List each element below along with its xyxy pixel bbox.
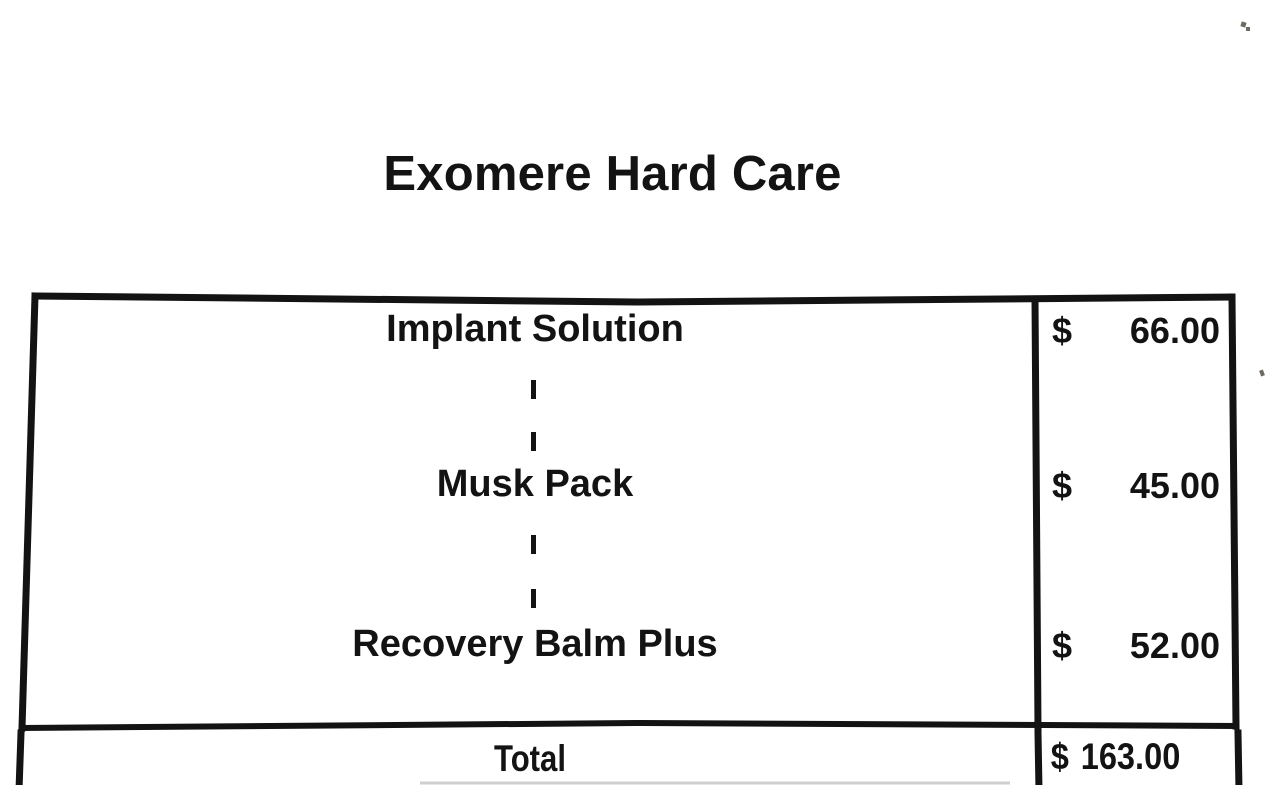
price-cell: $45.00 [1038, 465, 1236, 507]
separator-tick-icon [531, 380, 536, 399]
price-cell: $52.00 [1038, 625, 1236, 667]
table-row: Recovery Balm Plus [40, 623, 1030, 666]
table-borders [0, 0, 1280, 785]
price-cell: $66.00 [1038, 310, 1236, 352]
total-price-cell: $163.00 [1042, 736, 1214, 778]
total-amount: 163.00 [1081, 736, 1213, 778]
separator-tick-icon [531, 589, 536, 608]
price-amount: 52.00 [1092, 625, 1220, 667]
currency-symbol: $ [1038, 625, 1092, 667]
currency-symbol: $ [1042, 736, 1081, 778]
scan-speck [1246, 27, 1250, 31]
currency-symbol: $ [1038, 310, 1092, 352]
price-table: Implant Solution $66.00 Musk Pack $45.00… [0, 0, 1280, 785]
price-amount: 66.00 [1092, 310, 1220, 352]
document-page: Exomere Hard Care Implant Solution $66.0… [0, 0, 1280, 785]
table-row: Musk Pack [40, 463, 1030, 506]
separator-tick-icon [531, 432, 536, 451]
total-label: Total [110, 738, 950, 780]
price-amount: 45.00 [1092, 465, 1220, 507]
separator-tick-icon [531, 535, 536, 554]
currency-symbol: $ [1038, 465, 1092, 507]
table-row: Implant Solution [40, 308, 1030, 351]
